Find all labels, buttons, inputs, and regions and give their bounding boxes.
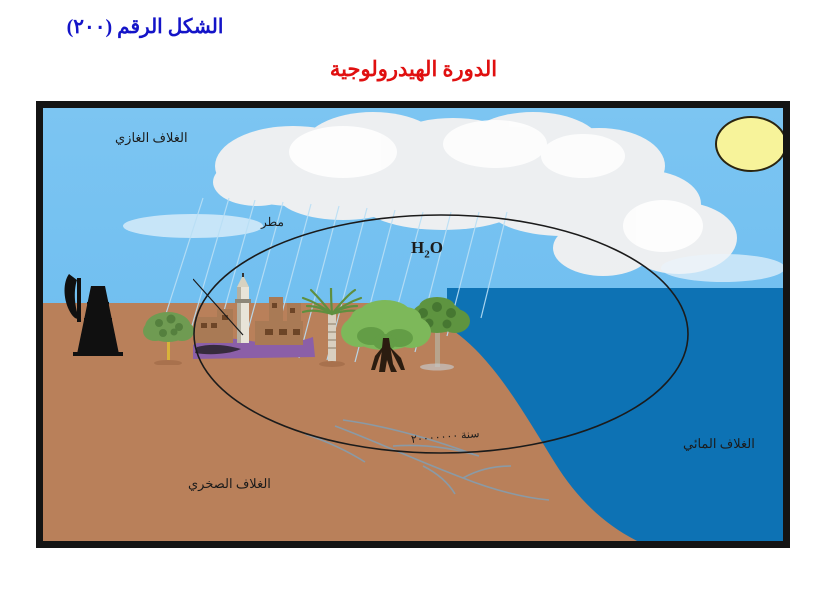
h2o-o: O	[430, 238, 443, 257]
h2o-h: H	[411, 238, 424, 257]
diagram-title: الدورة الهيدرولوجية	[0, 57, 827, 82]
label-water-formula: H2O	[411, 238, 443, 260]
illustration-frame: الغلاف الغازي مطر H2O سنة ٢٠٠٠٠٠٠٠ الغلا…	[36, 101, 790, 548]
label-rain: مطر	[261, 215, 284, 230]
label-atmosphere: الغلاف الغازي	[115, 130, 188, 146]
label-hydrosphere: الغلاف المائي	[683, 436, 755, 452]
figure-number-caption: الشكل الرقم (٢٠٠)	[0, 14, 290, 39]
hydrological-cycle-scene: الغلاف الغازي مطر H2O سنة ٢٠٠٠٠٠٠٠ الغلا…	[43, 108, 783, 541]
label-lithosphere: الغلاف الصخري	[188, 476, 271, 492]
